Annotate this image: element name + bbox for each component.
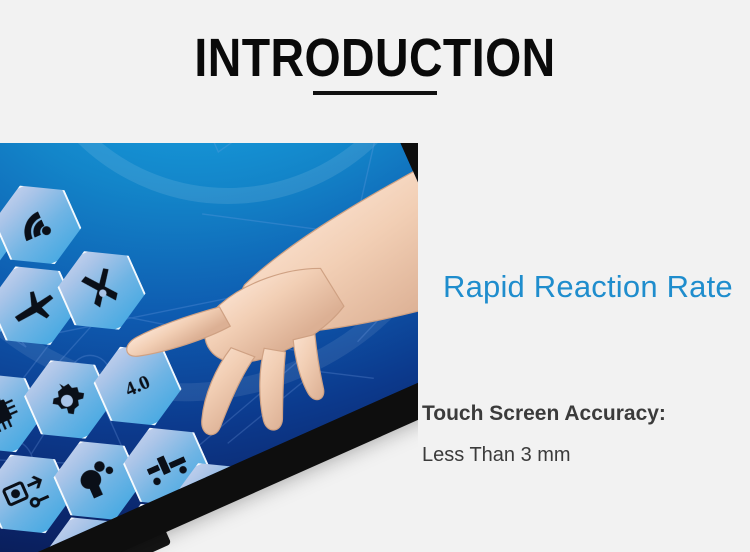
brain-gears-icon (66, 449, 129, 512)
monitor-bezel: 工业4.0智能制造 (0, 143, 418, 552)
machine-part-icon (180, 545, 243, 552)
camera-transfer-icon (0, 462, 60, 525)
hex-machine-part[interactable] (158, 521, 264, 552)
spec-value-touch-accuracy: Less Than 3 mm (422, 444, 571, 467)
spec-label-touch-accuracy: Touch Screen Accuracy: (422, 402, 666, 426)
page-title: INTRODUCTION (53, 30, 698, 86)
title-underline-rule (313, 91, 437, 95)
headline-rapid-reaction-rate: Rapid Reaction Rate (443, 269, 733, 305)
product-photo: 工业4.0智能制造 (0, 143, 418, 552)
introduction-page: INTRODUCTION (0, 0, 750, 552)
plane-icon (1, 274, 64, 337)
wifi-signal-icon (6, 193, 69, 256)
monitor-screen: 工业4.0智能制造 (0, 143, 418, 552)
copy-block: Rapid Reaction Rate Touch Screen Accurac… (418, 143, 750, 552)
page-header: INTRODUCTION (0, 0, 750, 143)
person-icon (57, 525, 120, 552)
gear-wrench-icon (36, 368, 99, 431)
microchip-icon (0, 381, 30, 444)
